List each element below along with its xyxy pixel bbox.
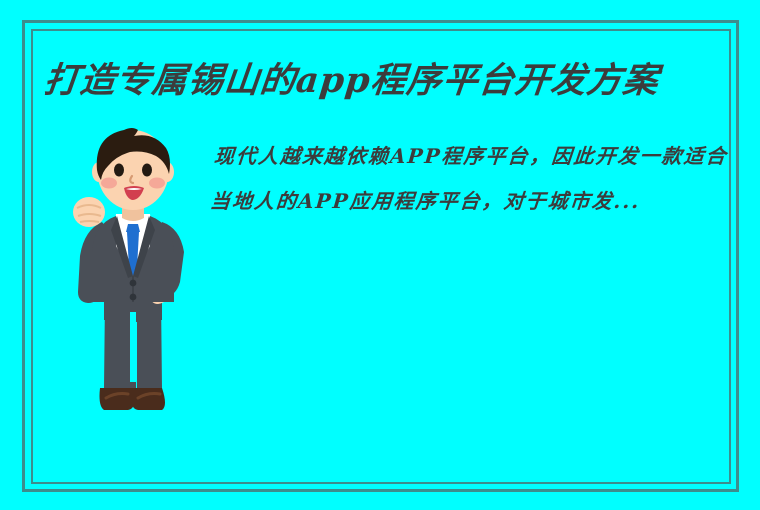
right-eye-icon — [142, 164, 152, 177]
head-icon — [92, 128, 174, 210]
left-cheek-icon — [101, 178, 117, 189]
businessman-illustration — [58, 126, 208, 432]
article-thumbnail-card: 打造专属锡山的app程序平台开发方案 现代人越来越依赖APP程序平台，因此开发一… — [0, 0, 760, 510]
jacket-button-icon — [130, 280, 137, 287]
jacket-button-icon — [130, 294, 137, 301]
left-shoe-icon — [100, 388, 135, 410]
right-cheek-icon — [149, 178, 165, 189]
left-eye-icon — [114, 164, 124, 177]
page-title: 打造专属锡山的app程序平台开发方案 — [42, 58, 727, 104]
raised-fist-icon — [73, 197, 105, 227]
article-excerpt: 现代人越来越依赖APP程序平台，因此开发一款适合当地人的APP应用程序平台，对于… — [204, 134, 736, 274]
